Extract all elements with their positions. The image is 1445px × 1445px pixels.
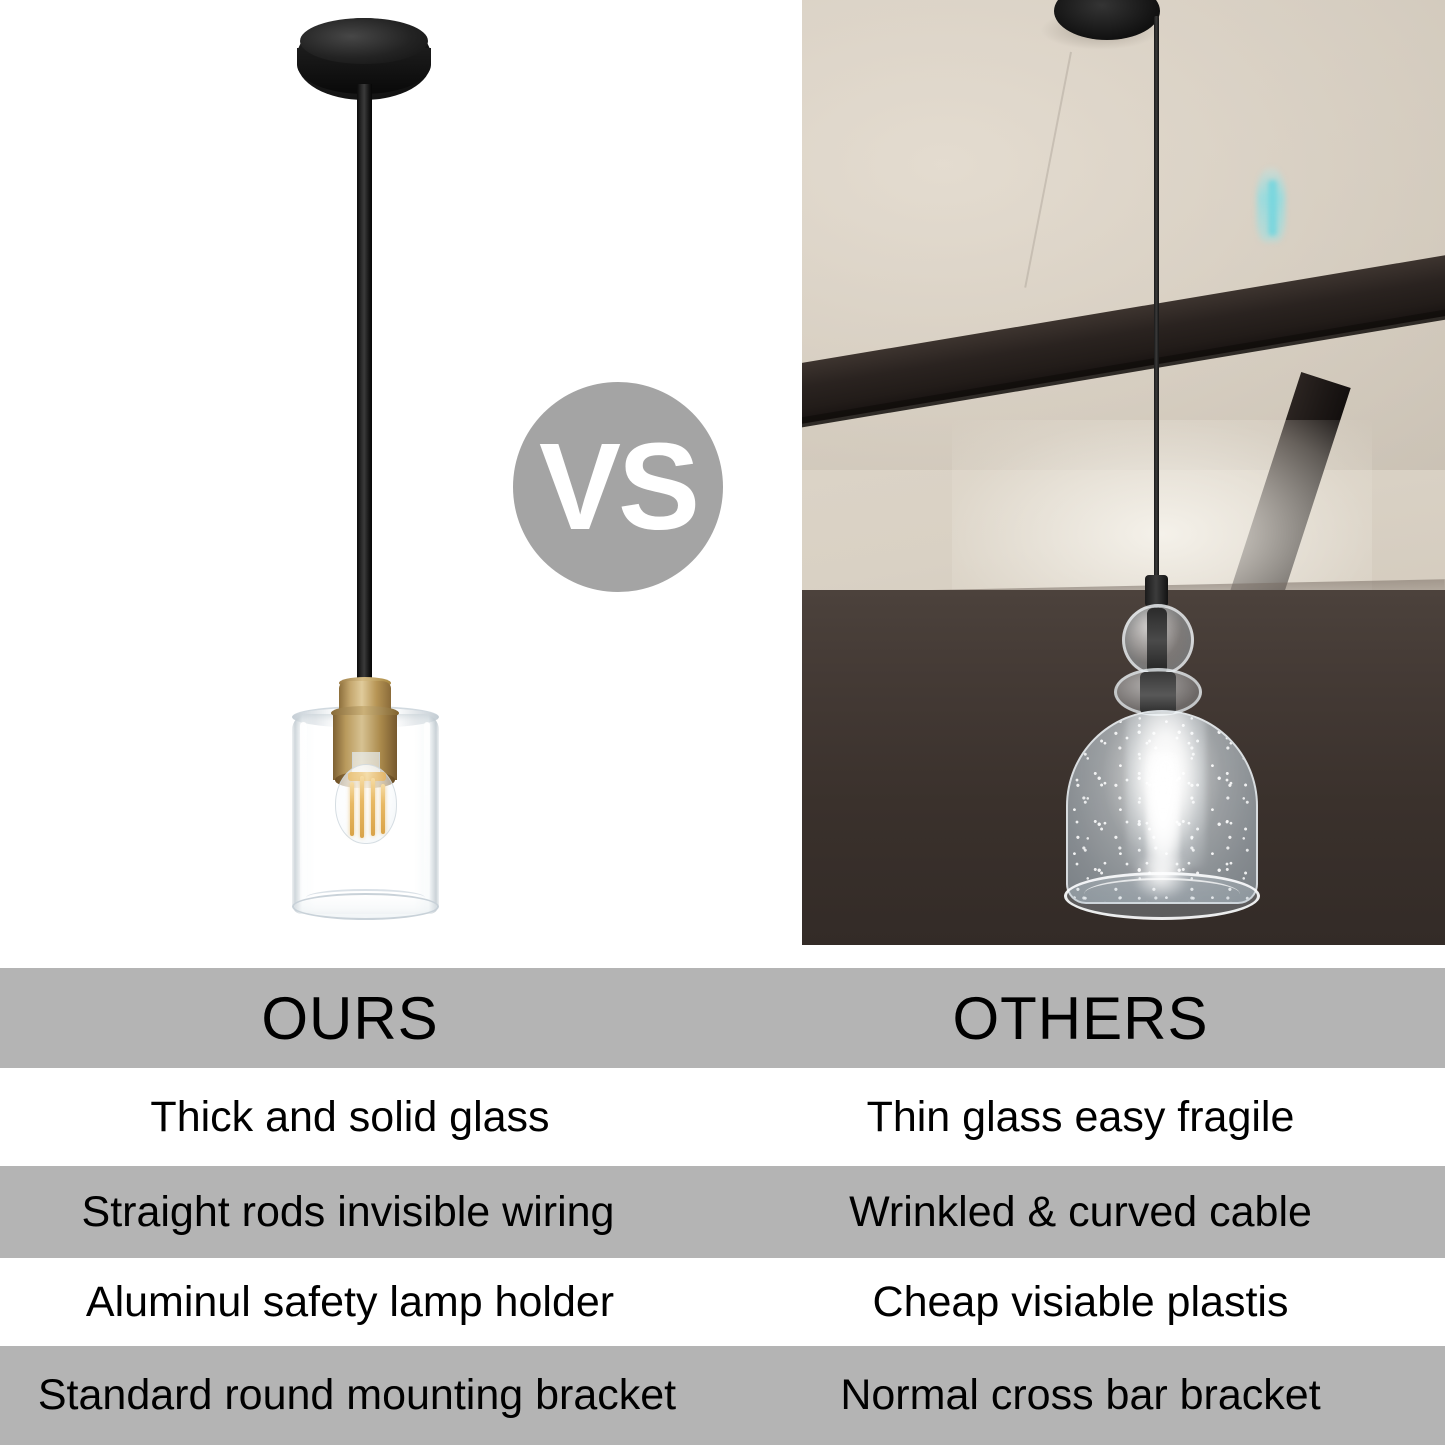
header-ours: OURS: [0, 968, 722, 1068]
others-product-image: [802, 0, 1445, 945]
bulb-filament: [350, 782, 354, 836]
comparison-table: OURS OTHERS Thick and solid glass Thin g…: [0, 960, 1445, 1445]
pendant-rod: [357, 84, 372, 689]
table-row: Straight rods invisible wiring Wrinkled …: [0, 1166, 1445, 1258]
glass-highlight-right: [424, 722, 430, 900]
ours-feature-3: Aluminul safety lamp holder: [0, 1258, 722, 1346]
ours-feature-4: Standard round mounting bracket: [0, 1346, 722, 1445]
header-others: OTHERS: [722, 968, 1445, 1068]
others-feature-4: Normal cross bar bracket: [722, 1346, 1445, 1445]
cyan-reflection-core: [1268, 180, 1277, 236]
comparison-infographic: VS: [0, 0, 1445, 1445]
vs-badge: VS: [513, 382, 723, 592]
bulb-filament: [360, 776, 364, 838]
glass-shade-bottom-inner-edge: [306, 889, 425, 906]
table-row: Standard round mounting bracket Normal c…: [0, 1346, 1445, 1445]
others-feature-2: Wrinkled & curved cable: [722, 1166, 1445, 1258]
visual-comparison-area: VS: [0, 0, 1445, 960]
competitor-ball-core: [1147, 608, 1167, 674]
canopy-top-face: [300, 18, 428, 64]
vs-label: VS: [539, 426, 697, 549]
ours-feature-1: Thick and solid glass: [0, 1068, 722, 1166]
competitor-ring-core: [1140, 672, 1176, 714]
competitor-socket-body: [1145, 575, 1168, 607]
table-row: Thick and solid glass Thin glass easy fr…: [0, 1068, 1445, 1166]
others-feature-1: Thin glass easy fragile: [722, 1068, 1445, 1166]
bulb-filament-bridge: [348, 772, 386, 781]
table-header-row: OURS OTHERS: [0, 968, 1445, 1068]
others-feature-3: Cheap visiable plastis: [722, 1258, 1445, 1346]
bulb-filament: [381, 784, 385, 834]
bulb-filament: [371, 778, 375, 836]
ours-feature-2: Straight rods invisible wiring: [0, 1166, 722, 1258]
competitor-bulb-hotspot: [1132, 852, 1190, 900]
glass-highlight-left: [300, 722, 307, 902]
table-row: Aluminul safety lamp holder Cheap visiab…: [0, 1258, 1445, 1346]
